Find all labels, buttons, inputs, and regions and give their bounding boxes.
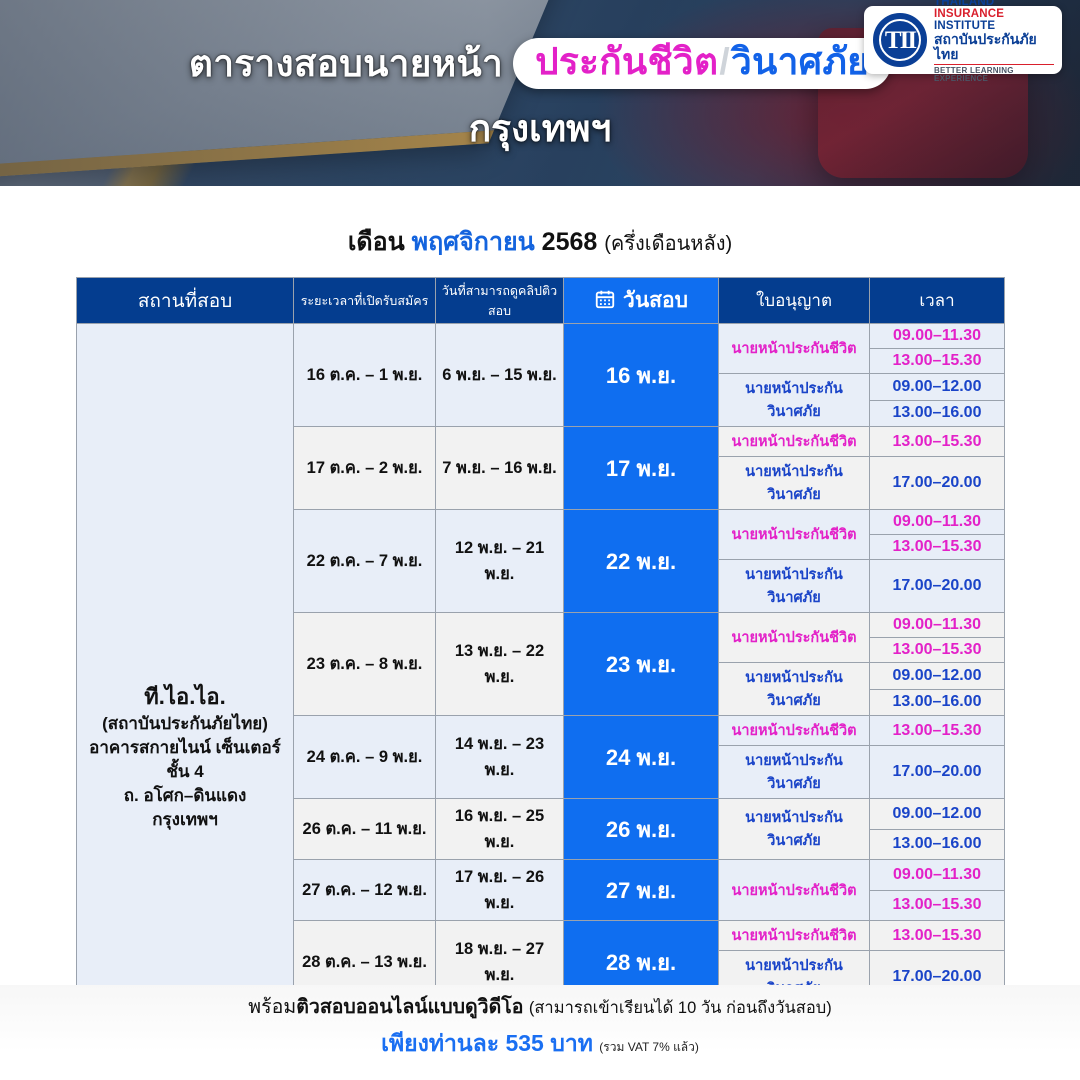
venue-floor: ชั้น 4 (81, 760, 289, 784)
month-prefix: เดือน (348, 228, 405, 256)
license-type-cell: นายหน้าประกันชีวิต (719, 613, 870, 663)
registration-period-cell: 26 ต.ค. – 11 พ.ย. (294, 799, 436, 860)
clip-period-cell: 7 พ.ย. – 16 พ.ย. (436, 427, 564, 510)
venue-city: กรุงเทพฯ (81, 808, 289, 832)
footer-price: เพียงท่านละ 535 บาท (381, 1030, 593, 1056)
exam-schedule-table: สถานที่สอบ ระยะเวลาที่เปิดรับสมัคร วันที… (76, 277, 1005, 1080)
exam-time-cell: 09.00–12.00 (870, 374, 1005, 401)
clip-period-cell: 16 พ.ย. – 25 พ.ย. (436, 799, 564, 860)
clip-period-cell: 17 พ.ย. – 26 พ.ย. (436, 860, 564, 921)
exam-time-cell: 17.00–20.00 (870, 746, 1005, 799)
venue-name: ที.ไอ.ไอ. (81, 681, 289, 712)
col-header-registration: ระยะเวลาที่เปิดรับสมัคร (294, 278, 436, 324)
exam-date-cell: 27 พ.ย. (564, 860, 719, 921)
table-head: สถานที่สอบ ระยะเวลาที่เปิดรับสมัคร วันที… (77, 278, 1005, 324)
exam-time-cell: 09.00–11.30 (870, 324, 1005, 349)
exam-date-cell: 26 พ.ย. (564, 799, 719, 860)
license-type-cell: นายหน้าประกันวินาศภัย (719, 663, 870, 716)
exam-time-cell: 13.00–16.00 (870, 689, 1005, 716)
exam-date-cell: 22 พ.ย. (564, 510, 719, 613)
month-name: พฤศจิกายน (412, 228, 535, 256)
exam-time-cell: 13.00–15.30 (870, 427, 1005, 457)
registration-period-cell: 23 ต.ค. – 8 พ.ย. (294, 613, 436, 716)
exam-time-cell: 09.00–12.00 (870, 663, 1005, 690)
infographic-page: ตารางสอบนายหน้า ประกันชีวิต / วินาศภัย ก… (0, 0, 1080, 1080)
tii-logo: TII THAILAND INSURANCE INSTITUTE สถาบันป… (864, 6, 1062, 74)
month-heading: เดือน พฤศจิกายน 2568 (ครึ่งเดือนหลัง) (0, 222, 1080, 262)
license-type-cell: นายหน้าประกันชีวิต (719, 427, 870, 457)
license-type-cell: นายหน้าประกันวินาศภัย (719, 746, 870, 799)
exam-time-cell: 09.00–11.30 (870, 860, 1005, 891)
venue-building: อาคารสกายไนน์ เซ็นเตอร์ (81, 736, 289, 760)
license-type-cell: นายหน้าประกันวินาศภัย (719, 560, 870, 613)
license-type-cell: นายหน้าประกันวินาศภัย (719, 457, 870, 510)
col-header-exam-date-label: วันสอบ (623, 289, 688, 312)
col-header-exam-date: วันสอบ (564, 278, 719, 324)
exam-date-cell: 16 พ.ย. (564, 324, 719, 427)
month-note: (ครึ่งเดือนหลัง) (604, 233, 732, 255)
table-header-row: สถานที่สอบ ระยะเวลาที่เปิดรับสมัคร วันที… (77, 278, 1005, 324)
registration-period-cell: 24 ต.ค. – 9 พ.ย. (294, 716, 436, 799)
exam-time-cell: 13.00–15.30 (870, 638, 1005, 663)
exam-time-cell: 09.00–11.30 (870, 510, 1005, 535)
clip-period-cell: 6 พ.ย. – 15 พ.ย. (436, 324, 564, 427)
table-row: ที.ไอ.ไอ.(สถาบันประกันภัยไทย)อาคารสกายไน… (77, 324, 1005, 349)
logo-thailand-word: THAILAND (934, 0, 994, 8)
license-type-cell: นายหน้าประกันชีวิต (719, 860, 870, 921)
exam-time-cell: 13.00–16.00 (870, 400, 1005, 427)
badge-life-label: ประกันชีวิต (535, 41, 718, 84)
exam-time-cell: 13.00–15.30 (870, 921, 1005, 951)
license-type-cell: นายหน้าประกันชีวิต (719, 716, 870, 746)
license-type-cell: นายหน้าประกันชีวิต (719, 921, 870, 951)
logo-tagline: BETTER LEARNING EXPERIENCE (934, 67, 1054, 84)
license-type-cell: นายหน้าประกันชีวิต (719, 324, 870, 374)
footer-vat-note: (รวม VAT 7% แล้ว) (599, 1040, 699, 1054)
exam-time-cell: 17.00–20.00 (870, 457, 1005, 510)
registration-period-cell: 27 ต.ค. – 12 พ.ย. (294, 860, 436, 921)
tii-logo-text: THAILAND INSURANCE INSTITUTE สถาบันประกั… (934, 0, 1054, 84)
footer-line-1: พร้อมติวสอบออนไลน์แบบดูวิดีโอ (สามารถเข้… (0, 991, 1080, 1022)
clip-period-cell: 12 พ.ย. – 21 พ.ย. (436, 510, 564, 613)
footer-promo: พร้อมติวสอบออนไลน์แบบดูวิดีโอ (สามารถเข้… (0, 985, 1080, 1080)
badge-nonlife-label: วินาศภัย (731, 41, 869, 84)
table-body: ที.ไอ.ไอ.(สถาบันประกันภัยไทย)อาคารสกายไน… (77, 324, 1005, 1080)
license-type-cell: นายหน้าประกันชีวิต (719, 510, 870, 560)
venue-org: (สถาบันประกันภัยไทย) (81, 712, 289, 736)
exam-time-cell: 09.00–11.30 (870, 613, 1005, 638)
exam-time-cell: 13.00–15.30 (870, 890, 1005, 921)
insurance-type-badge: ประกันชีวิต / วินาศภัย (513, 38, 891, 90)
exam-date-cell: 24 พ.ย. (564, 716, 719, 799)
tii-monogram: TII (885, 28, 915, 53)
footer-course-note: (สามารถเข้าเรียนได้ 10 วัน ก่อนถึงวันสอบ… (529, 999, 832, 1017)
col-header-license: ใบอนุญาต (719, 278, 870, 324)
exam-time-cell: 13.00–15.30 (870, 349, 1005, 374)
calendar-icon (594, 288, 616, 316)
tii-logo-mark-icon: TII (873, 13, 927, 67)
exam-time-cell: 13.00–15.30 (870, 716, 1005, 746)
col-header-venue: สถานที่สอบ (77, 278, 294, 324)
license-type-cell: นายหน้าประกันวินาศภัย (719, 799, 870, 860)
col-header-time: เวลา (870, 278, 1005, 324)
registration-period-cell: 22 ต.ค. – 7 พ.ย. (294, 510, 436, 613)
hero-banner: ตารางสอบนายหน้า ประกันชีวิต / วินาศภัย ก… (0, 0, 1080, 186)
exam-date-cell: 17 พ.ย. (564, 427, 719, 510)
schedule-table-wrapper: สถานที่สอบ ระยะเวลาที่เปิดรับสมัคร วันที… (76, 277, 1004, 1080)
venue-road: ถ. อโศก–ดินแดง (81, 784, 289, 808)
logo-divider (934, 64, 1054, 65)
logo-line-1: THAILAND INSURANCE (934, 0, 1054, 20)
banner-title-city: กรุงเทพฯ (0, 99, 1080, 158)
badge-separator: / (719, 41, 730, 84)
clip-period-cell: 13 พ.ย. – 22 พ.ย. (436, 613, 564, 716)
license-type-cell: นายหน้าประกันวินาศภัย (719, 374, 870, 427)
exam-date-cell: 23 พ.ย. (564, 613, 719, 716)
exam-time-cell: 13.00–16.00 (870, 829, 1005, 860)
month-year: 2568 (542, 228, 598, 256)
clip-period-cell: 14 พ.ย. – 23 พ.ย. (436, 716, 564, 799)
registration-period-cell: 17 ต.ค. – 2 พ.ย. (294, 427, 436, 510)
exam-time-cell: 17.00–20.00 (870, 560, 1005, 613)
logo-thai-name: สถาบันประกันภัยไทย (934, 32, 1054, 61)
banner-title-prefix: ตารางสอบนายหน้า (189, 34, 503, 93)
logo-insurance-word: INSURANCE (934, 8, 1004, 20)
exam-time-cell: 13.00–15.30 (870, 535, 1005, 560)
registration-period-cell: 16 ต.ค. – 1 พ.ย. (294, 324, 436, 427)
footer-course-name: ติวสอบออนไลน์แบบดูวิดีโอ (296, 996, 523, 1018)
venue-cell: ที.ไอ.ไอ.(สถาบันประกันภัยไทย)อาคารสกายไน… (77, 324, 294, 1080)
exam-time-cell: 09.00–12.00 (870, 799, 1005, 830)
col-header-clip: วันที่สามารถดูคลิปติวสอบ (436, 278, 564, 324)
footer-prefix: พร้อม (248, 996, 296, 1018)
footer-line-2: เพียงท่านละ 535 บาท (รวม VAT 7% แล้ว) (0, 1026, 1080, 1062)
